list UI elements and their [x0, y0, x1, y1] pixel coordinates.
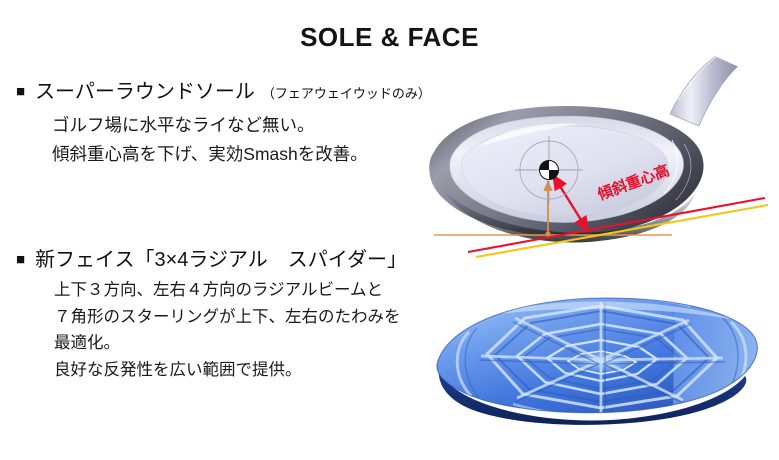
section-body-sole: ゴルフ場に水平なライなど無い。 傾斜重心高を下げ、実効Smashを改善。: [52, 111, 436, 169]
body-line: 上下３方向、左右４方向のラジアルビームと: [54, 277, 436, 304]
section-heading-sole: ■ スーパーラウンドソール （フェアウェイウッドのみ）: [16, 80, 436, 104]
square-bullet-icon: ■: [16, 84, 25, 99]
section-heading-main-face: 新フェイス「3×4ラジアル スパイダー」: [35, 248, 407, 272]
section-super-round-sole: ■ スーパーラウンドソール （フェアウェイウッドのみ） ゴルフ場に水平なライなど…: [16, 80, 436, 169]
face-svg: [425, 272, 779, 458]
slide-canvas: SOLE & FACE ■ スーパーラウンドソール （フェアウェイウッドのみ） …: [0, 0, 779, 460]
section-new-face: ■ 新フェイス「3×4ラジアル スパイダー」 上下３方向、左右４方向のラジアルビ…: [16, 248, 436, 384]
section-heading-main-sole: スーパーラウンドソール: [35, 80, 255, 104]
body-line: ゴルフ場に水平なライなど無い。: [52, 111, 436, 140]
club-head-svg: 傾斜重心高: [420, 48, 779, 260]
club-head-diagram: 傾斜重心高: [420, 48, 779, 260]
section-body-face: 上下３方向、左右４方向のラジアルビームと ７角形のスターリングが上下、左右のたわ…: [54, 277, 436, 384]
body-line: 最適化。: [54, 330, 436, 357]
square-bullet-icon: ■: [16, 252, 25, 267]
body-line: ７角形のスターリングが上下、左右のたわみを: [54, 304, 436, 331]
section-heading-sub-sole: （フェアウェイウッドのみ）: [262, 86, 431, 102]
body-line: 良好な反発性を広い範囲で提供。: [54, 357, 436, 384]
section-heading-face: ■ 新フェイス「3×4ラジアル スパイダー」: [16, 248, 436, 272]
hosel-shaft: [670, 56, 738, 126]
body-line: 傾斜重心高を下げ、実効Smashを改善。: [52, 140, 436, 169]
face-diagram: [425, 272, 779, 458]
